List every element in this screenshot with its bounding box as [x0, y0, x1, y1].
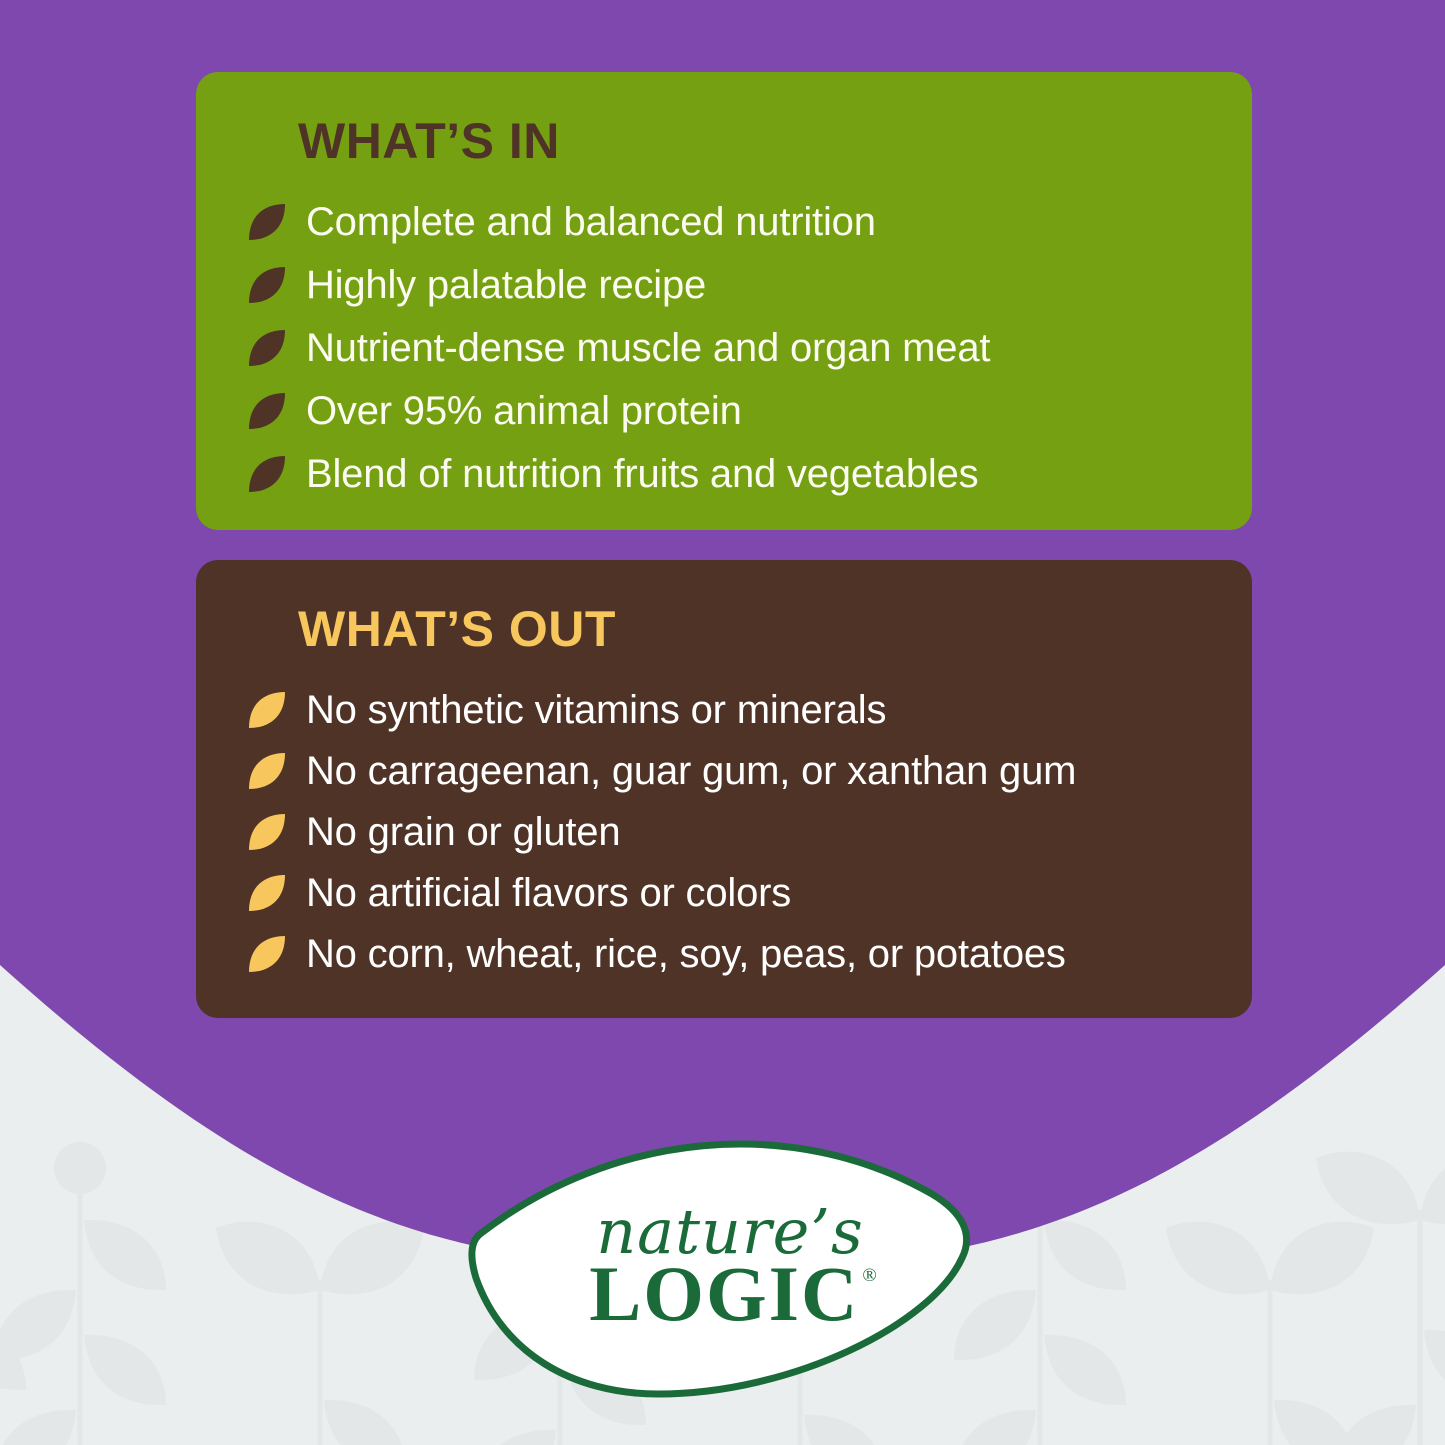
brand-logo: nature’s LOGIC ®: [462, 1138, 982, 1400]
whats-out-heading: WHAT’S OUT: [298, 604, 1212, 654]
list-item: No corn, wheat, rice, soy, peas, or pota…: [244, 928, 1212, 980]
list-item: Nutrient-dense muscle and organ meat: [244, 322, 1212, 374]
leaf-icon: [244, 809, 290, 855]
list-item: Blend of nutrition fruits and vegetables: [244, 448, 1212, 500]
whats-in-panel: WHAT’S IN Complete and balanced nutritio…: [196, 72, 1252, 530]
list-item-label: Highly palatable recipe: [306, 263, 706, 308]
list-item-label: Complete and balanced nutrition: [306, 200, 876, 245]
list-item-label: No corn, wheat, rice, soy, peas, or pota…: [306, 932, 1066, 977]
list-item-label: No synthetic vitamins or minerals: [306, 688, 886, 733]
leaf-icon: [244, 870, 290, 916]
list-item-label: No grain or gluten: [306, 810, 620, 855]
promo-graphic: WHAT’S IN Complete and balanced nutritio…: [0, 0, 1445, 1445]
list-item: No carrageenan, guar gum, or xanthan gum: [244, 745, 1212, 797]
leaf-icon: [244, 931, 290, 977]
whats-out-panel: WHAT’S OUT No synthetic vitamins or mine…: [196, 560, 1252, 1018]
leaf-badge-icon: [462, 1138, 982, 1400]
leaf-icon: [244, 262, 290, 308]
leaf-icon: [244, 388, 290, 434]
whats-in-list: Complete and balanced nutrition Highly p…: [244, 196, 1212, 500]
list-item: No synthetic vitamins or minerals: [244, 684, 1212, 736]
list-item: Complete and balanced nutrition: [244, 196, 1212, 248]
list-item-label: Nutrient-dense muscle and organ meat: [306, 326, 990, 371]
list-item-label: Blend of nutrition fruits and vegetables: [306, 452, 978, 497]
list-item: Highly palatable recipe: [244, 259, 1212, 311]
list-item: No artificial flavors or colors: [244, 867, 1212, 919]
leaf-icon: [244, 687, 290, 733]
list-item-label: No carrageenan, guar gum, or xanthan gum: [306, 749, 1076, 794]
leaf-icon: [244, 325, 290, 371]
whats-out-list: No synthetic vitamins or minerals No car…: [244, 684, 1212, 980]
list-item-label: Over 95% animal protein: [306, 389, 742, 434]
list-item: Over 95% animal protein: [244, 385, 1212, 437]
list-item: No grain or gluten: [244, 806, 1212, 858]
leaf-icon: [244, 451, 290, 497]
leaf-icon: [244, 199, 290, 245]
whats-in-heading: WHAT’S IN: [298, 116, 1212, 166]
leaf-icon: [244, 748, 290, 794]
list-item-label: No artificial flavors or colors: [306, 871, 791, 916]
